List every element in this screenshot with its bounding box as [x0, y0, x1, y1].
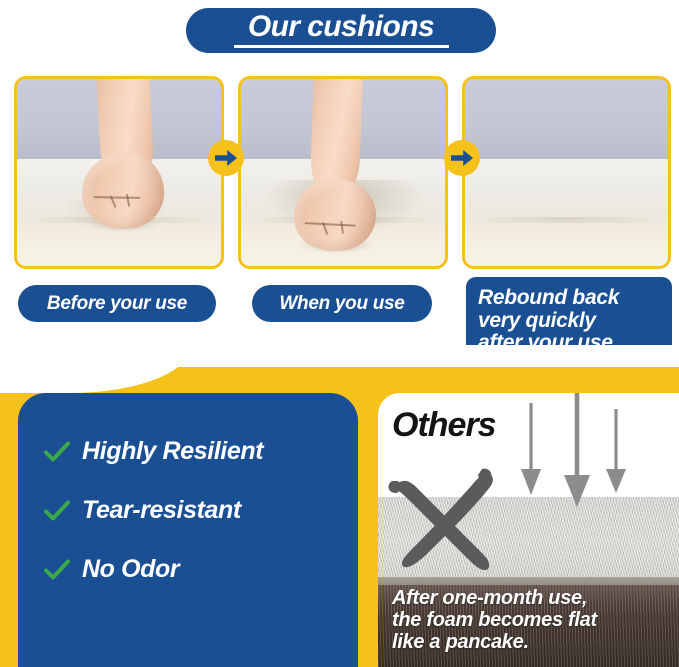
check-icon [44, 439, 70, 465]
feature-label: No Odor [82, 555, 179, 584]
demo-photo-during [238, 76, 448, 269]
page-title-pill: Our cushions [186, 8, 496, 53]
caption-before-your-use: Before your use [18, 285, 216, 322]
product-infographic: Our cushions [0, 0, 679, 667]
caption-line: the foam becomes flat [392, 609, 597, 631]
knuckle-crease [341, 221, 344, 234]
arrow-right-icon [444, 140, 480, 176]
foam-scene [465, 79, 668, 266]
feature-item-tear-resistant: Tear-resistant [44, 496, 348, 525]
demo-photo-before [14, 76, 224, 269]
feature-panel: Highly Resilient Tear-resistant No Odor [18, 393, 358, 667]
arrow-right-icon [208, 140, 244, 176]
feature-label: Tear-resistant [82, 496, 241, 525]
feature-list: Highly Resilient Tear-resistant No Odor [44, 437, 348, 614]
check-icon [44, 498, 70, 524]
knuckle-crease [94, 196, 141, 198]
foam-scene [241, 79, 445, 266]
others-title: Others [392, 406, 496, 445]
foam-top-surface [465, 159, 668, 223]
background-notch-strip [150, 345, 679, 367]
knuckle-crease [304, 222, 355, 226]
foam-front-face [465, 223, 668, 266]
demo-photo-after [462, 76, 671, 269]
others-caption: After one-month use, the foam becomes fl… [392, 587, 597, 653]
forearm [310, 76, 363, 192]
caption-line: very quickly [478, 310, 596, 332]
feature-item-no-odor: No Odor [44, 555, 348, 584]
photo-background-wall [465, 79, 668, 159]
caption-when-you-use: When you use [252, 285, 432, 322]
title-underline [234, 45, 449, 48]
feature-label: Highly Resilient [82, 437, 263, 466]
caption-line: Rebound back [478, 287, 619, 309]
page-title: Our cushions [248, 12, 434, 42]
caption-line: After one-month use, [392, 587, 597, 609]
cross-brush-icon [384, 467, 508, 575]
others-comparison-card: Others [378, 393, 679, 667]
caption-line: like a pancake. [392, 631, 597, 653]
feature-item-highly-resilient: Highly Resilient [44, 437, 348, 466]
check-icon [44, 557, 70, 583]
foam-scene [17, 79, 221, 266]
